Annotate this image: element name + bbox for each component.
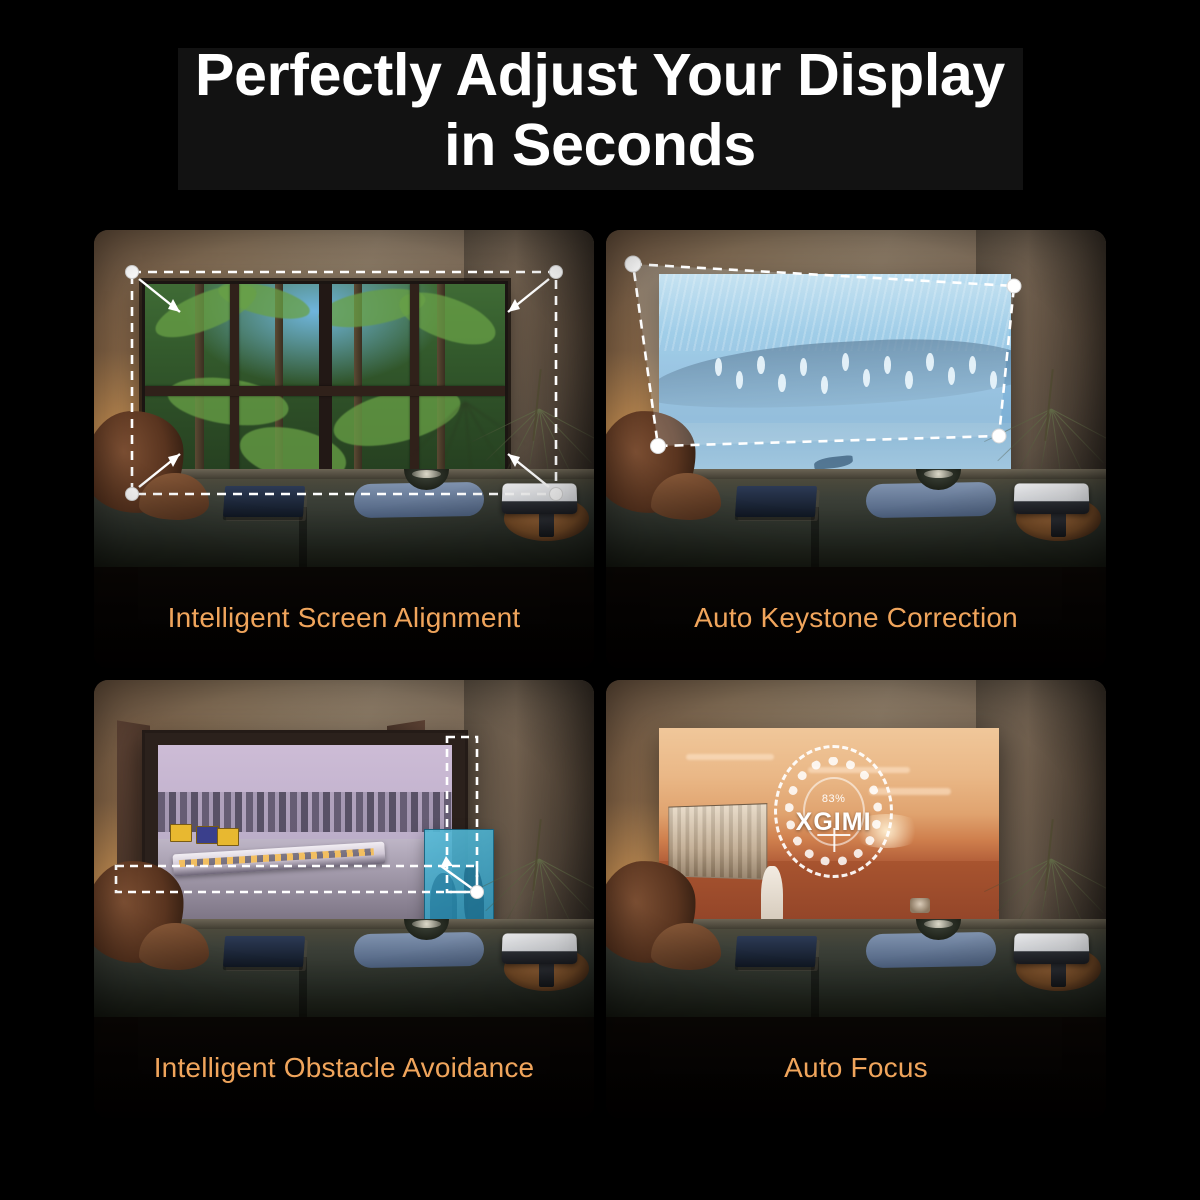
scene-vignette-3 [94,680,594,1022]
card-scene-1 [94,230,594,572]
scene-vignette-2 [606,230,1106,572]
card-label-intelligent-obstacle-avoidance: Intelligent Obstacle Avoidance [154,1052,535,1084]
card-label-intelligent-screen-alignment: Intelligent Screen Alignment [168,602,521,634]
card-label-auto-focus: Auto Focus [784,1052,928,1084]
page-title-line-2: in Seconds [0,110,1200,180]
page-title: Perfectly Adjust Your Display in Seconds [0,40,1200,180]
card-scene-2 [606,230,1106,572]
feature-grid: Intelligent Screen Alignment [94,230,1106,1118]
feature-card-intelligent-screen-alignment[interactable]: Intelligent Screen Alignment [94,230,594,668]
card-label-bar-1: Intelligent Screen Alignment [94,567,594,668]
scene-vignette-4 [606,680,1106,1022]
card-label-bar-2: Auto Keystone Correction [606,567,1106,668]
card-label-bar-4: Auto Focus [606,1017,1106,1118]
promo-page: Perfectly Adjust Your Display in Seconds [0,0,1200,1200]
card-scene-4: 83% XGIMI [606,680,1106,1022]
card-label-auto-keystone-correction: Auto Keystone Correction [694,602,1018,634]
feature-card-auto-focus[interactable]: 83% XGIMI [606,680,1106,1118]
page-title-line-1: Perfectly Adjust Your Display [0,40,1200,110]
feature-card-intelligent-obstacle-avoidance[interactable]: Intelligent Obstacle Avoidance [94,680,594,1118]
scene-vignette-1 [94,230,594,572]
card-label-bar-3: Intelligent Obstacle Avoidance [94,1017,594,1118]
feature-card-auto-keystone-correction[interactable]: Auto Keystone Correction [606,230,1106,668]
card-scene-3 [94,680,594,1022]
